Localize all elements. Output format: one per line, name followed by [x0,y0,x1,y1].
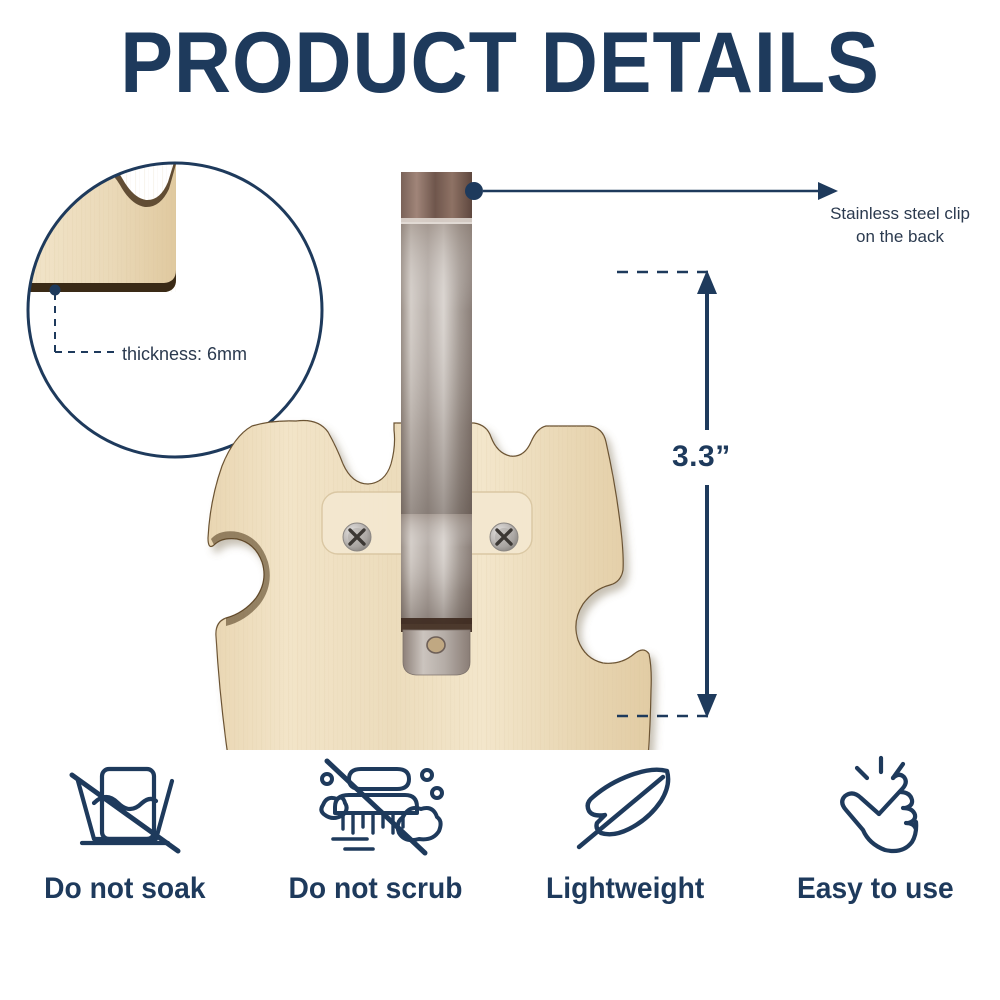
height-dimension-annotation [617,270,717,718]
feature-do-not-scrub: Do not scrub [260,752,490,906]
clip-fold-highlight [401,218,472,224]
clip-callout-annotation [465,182,838,200]
clip-callout-label: Stainless steel clip on the back [800,203,1000,249]
clip-foot-hole [427,637,445,653]
stainless-steel-clip [401,172,472,675]
screw-right [490,523,518,551]
thickness-label: thickness: 6mm [122,342,247,366]
tap-hand-icon [815,752,935,862]
screw-left [343,523,371,551]
feature-label: Lightweight [546,872,704,906]
feather-icon [565,752,685,862]
feature-lightweight: Lightweight [510,752,740,906]
feature-label: Do not soak [44,872,205,906]
height-dimension-label: 3.3” [672,440,731,474]
feature-row: Do not soak [0,752,1000,952]
arrow-down-icon [697,694,717,718]
no-soak-icon [60,752,190,862]
no-scrub-icon [305,752,445,862]
product-hero: Stainless steel clip on the back thickne… [0,130,1000,750]
arrow-right-icon [818,182,838,200]
feature-label: Do not scrub [288,872,462,906]
callout-dot [465,182,483,200]
product-details-page: PRODUCT DETAILS [0,0,1000,1000]
clip-top-fold [401,172,472,222]
clip-strap-shading [401,224,472,514]
feature-do-not-soak: Do not soak [10,752,240,906]
page-title: PRODUCT DETAILS [40,18,960,108]
feature-easy-to-use: Easy to use [760,752,990,906]
feature-label: Easy to use [797,872,954,906]
clip-strap-lower-shading [401,514,472,624]
arrow-up-icon [697,270,717,294]
